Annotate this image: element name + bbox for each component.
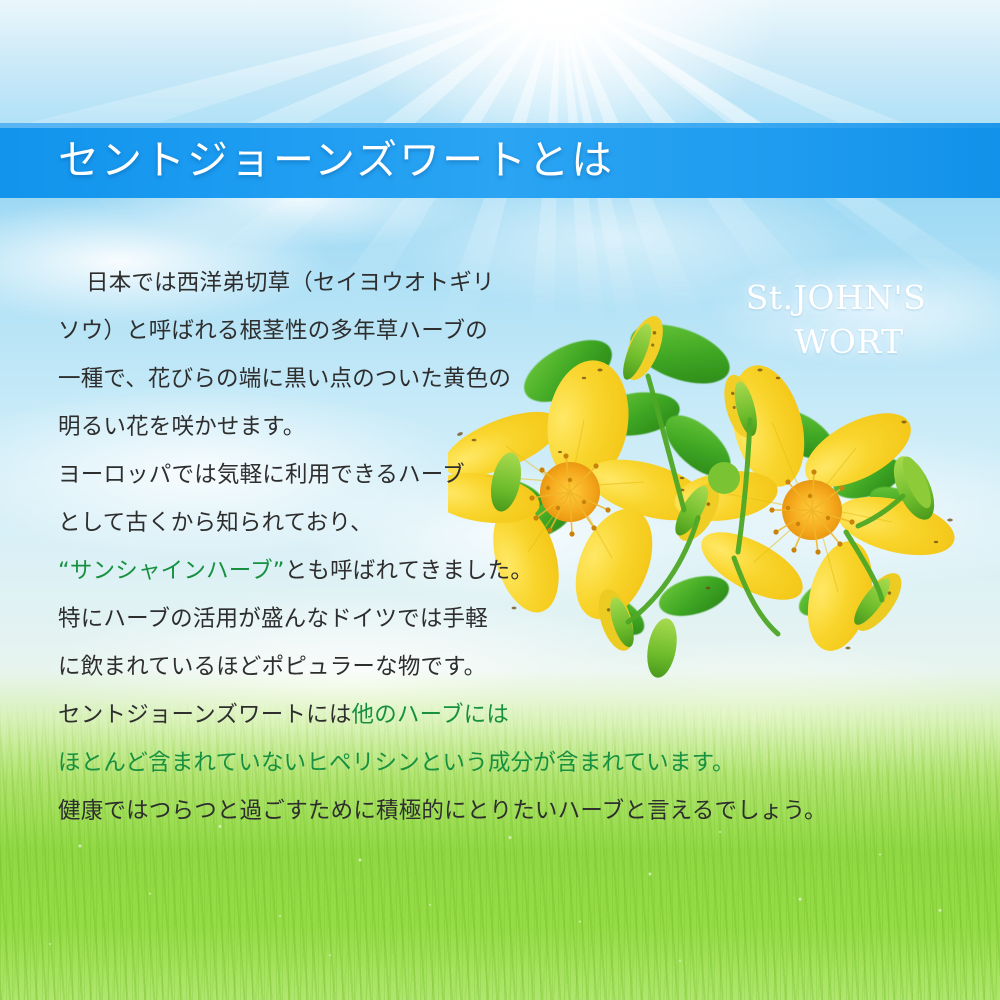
body-line-11-segment-1: ほとんど含まれていないヒペリシンという成分が含まれています。	[58, 750, 735, 776]
body-line-12: 健康ではつらつと過ごすために積極的にとりたいハーブと言えるでしょう。	[58, 800, 758, 848]
body-line-8-segment-1: 特にハーブの活用が盛んなドイツでは手軽	[58, 606, 488, 632]
body-line-2: ソウ）と呼ばれる根茎性の多年草ハーブの	[58, 320, 758, 368]
body-line-10-segment-2: 他のハーブには	[352, 702, 510, 728]
body-line-2-segment-1: ソウ）と呼ばれる根茎性の多年草ハーブの	[58, 318, 488, 344]
body-line-10: セントジョーンズワートには他のハーブには	[58, 704, 758, 752]
body-line-7-segment-2: とも呼ばれてきました。	[285, 558, 533, 584]
body-line-6: として古くから知られており、	[58, 512, 758, 560]
body-line-12-segment-1: 健康ではつらつと過ごすために積極的にとりたいハーブと言えるでしょう。	[58, 798, 827, 824]
page-root: セントジョーンズワートとは	[0, 0, 1000, 1000]
body-copy: 日本では西洋弟切草（セイヨウオトギリソウ）と呼ばれる根茎性の多年草ハーブの一種で…	[58, 272, 758, 848]
body-line-8: 特にハーブの活用が盛んなドイツでは手軽	[58, 608, 758, 656]
page-title: セントジョーンズワートとは	[58, 140, 614, 181]
body-line-7: “サンシャインハーブ”とも呼ばれてきました。	[58, 560, 758, 608]
body-line-5: ヨーロッパでは気軽に利用できるハーブ	[58, 464, 758, 512]
body-line-9-segment-1: に飲まれているほどポピュラーな物です。	[58, 654, 486, 680]
body-line-3-segment-1: 一種で、花びらの端に黒い点のついた黄色の	[58, 366, 511, 392]
body-line-1-segment-1: 日本では西洋弟切草（セイヨウオトギリ	[86, 270, 495, 296]
body-line-7-segment-1: “サンシャインハーブ”	[58, 558, 285, 584]
body-line-4: 明るい花を咲かせます。	[58, 416, 758, 464]
body-line-5-segment-1: ヨーロッパでは気軽に利用できるハーブ	[58, 462, 465, 488]
body-line-6-segment-1: として古くから知られており、	[58, 510, 373, 536]
body-line-4-segment-1: 明るい花を咲かせます。	[58, 414, 305, 440]
body-line-10-segment-1: セントジョーンズワートには	[58, 702, 352, 728]
body-line-3: 一種で、花びらの端に黒い点のついた黄色の	[58, 368, 758, 416]
section-title-bar: セントジョーンズワートとは	[0, 123, 1000, 198]
body-line-1: 日本では西洋弟切草（セイヨウオトギリ	[58, 272, 758, 320]
body-line-9: に飲まれているほどポピュラーな物です。	[58, 656, 758, 704]
body-line-11: ほとんど含まれていないヒペリシンという成分が含まれています。	[58, 752, 758, 800]
